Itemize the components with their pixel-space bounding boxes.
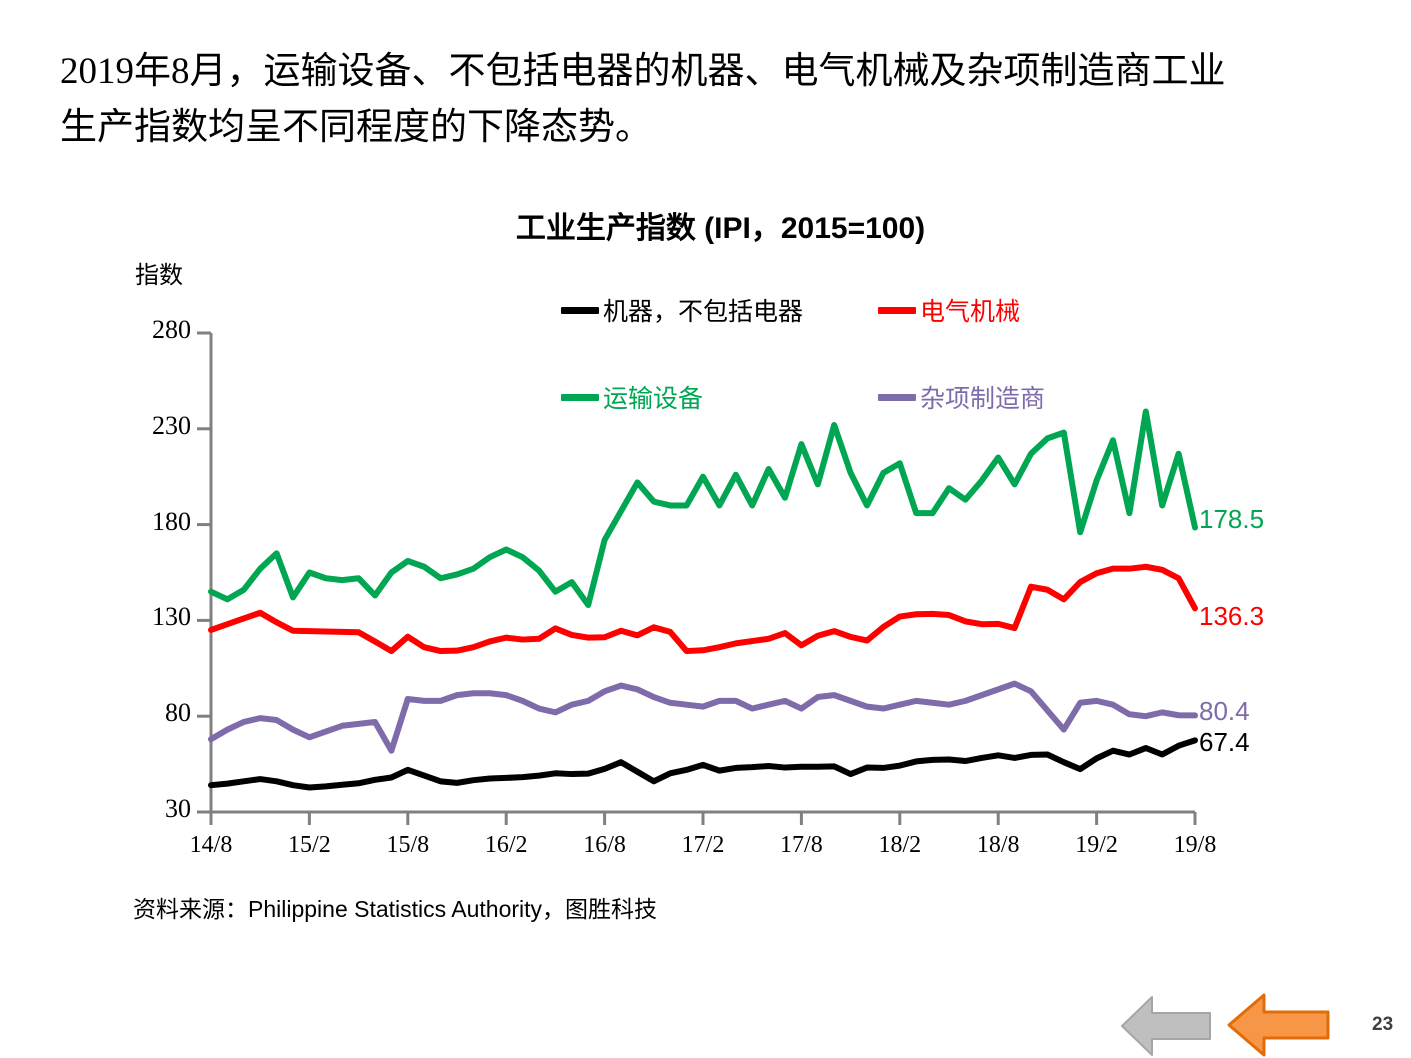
chart-title: 工业生产指数 (IPI，2015=100) <box>0 203 1411 247</box>
legend-item-electrical[interactable]: 电气机械 <box>878 292 1020 328</box>
previous-arrow-icon[interactable] <box>1118 995 1214 1057</box>
back-arrow-icon[interactable] <box>1224 992 1334 1058</box>
y-tick-label: 180 <box>111 507 191 537</box>
legend-item-machinery[interactable]: 机器，不包括电器 <box>561 292 803 328</box>
x-tick-label: 14/8 <box>166 832 256 859</box>
x-tick-label: 16/2 <box>461 832 551 859</box>
x-tick-label: 17/2 <box>658 832 748 859</box>
y-tick-label: 80 <box>111 698 191 728</box>
series-line-transport <box>211 412 1195 606</box>
end-value-label-electrical: 136.3 <box>1199 601 1264 632</box>
slide-canvas: 2019年8月，运输设备、不包括电器的机器、电气机械及杂项制造商工业 生产指数均… <box>0 0 1411 1058</box>
line-swatch-icon <box>561 394 599 401</box>
x-tick-label: 17/8 <box>756 832 846 859</box>
legend-label-transport: 运输设备 <box>603 379 703 415</box>
y-tick-label: 280 <box>111 315 191 345</box>
legend-label-machinery: 机器，不包括电器 <box>603 292 803 328</box>
line-swatch-icon <box>878 307 916 314</box>
headline-line-2: 生产指数均呈不同程度的下降态势。 <box>60 100 1350 156</box>
x-tick-label: 18/2 <box>855 832 945 859</box>
legend-item-transport[interactable]: 运输设备 <box>561 379 703 415</box>
source-note: 资料来源：Philippine Statistics Authority，图胜科… <box>133 890 657 924</box>
series-line-electrical <box>211 567 1195 651</box>
series-line-machinery <box>211 740 1195 787</box>
y-tick-label: 30 <box>111 794 191 824</box>
x-tick-label: 15/2 <box>264 832 354 859</box>
y-tick-label: 230 <box>111 411 191 441</box>
end-value-label-misc: 80.4 <box>1199 696 1250 727</box>
page-number: 23 <box>1372 1014 1393 1036</box>
y-tick-label: 130 <box>111 602 191 632</box>
legend-item-misc[interactable]: 杂项制造商 <box>878 379 1045 415</box>
legend-label-misc: 杂项制造商 <box>920 379 1045 415</box>
end-value-label-transport: 178.5 <box>1199 504 1264 535</box>
page-title: 2019年8月，运输设备、不包括电器的机器、电气机械及杂项制造商工业 生产指数均… <box>60 44 1350 156</box>
x-tick-label: 16/8 <box>560 832 650 859</box>
legend-label-electrical: 电气机械 <box>920 292 1020 328</box>
y-axis-unit-label: 指数 <box>135 255 183 290</box>
x-tick-label: 19/8 <box>1150 832 1240 859</box>
end-value-label-machinery: 67.4 <box>1199 727 1250 758</box>
x-tick-label: 19/2 <box>1052 832 1142 859</box>
x-tick-label: 18/8 <box>953 832 1043 859</box>
series-line-misc <box>211 684 1195 751</box>
line-swatch-icon <box>878 394 916 401</box>
headline-line-1: 2019年8月，运输设备、不包括电器的机器、电气机械及杂项制造商工业 <box>60 44 1350 100</box>
line-swatch-icon <box>561 307 599 314</box>
x-tick-label: 15/8 <box>363 832 453 859</box>
